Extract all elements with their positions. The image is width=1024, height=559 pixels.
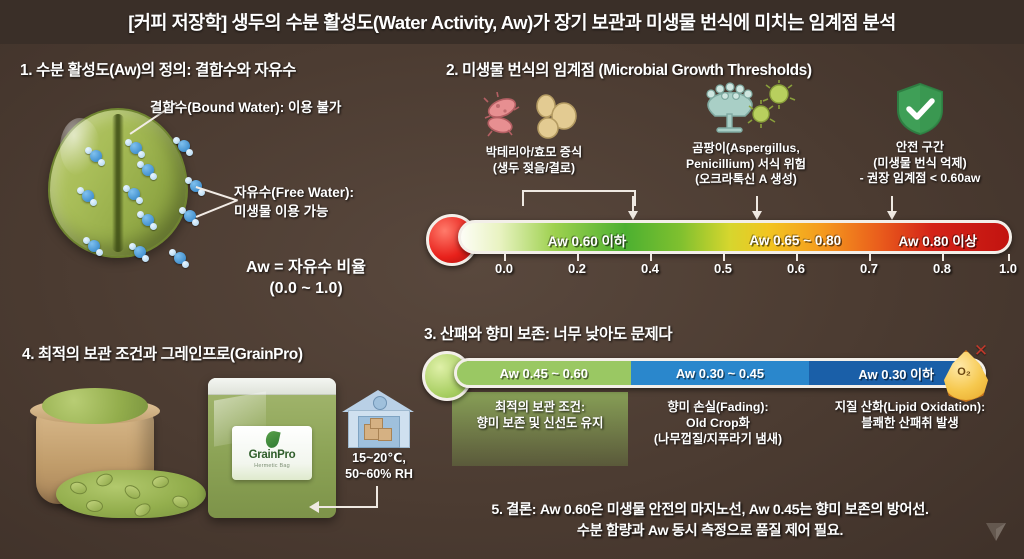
safety-shield-icon bbox=[894, 82, 946, 136]
tick-label-7: 1.0 bbox=[999, 261, 1017, 276]
water-molecule-icon bbox=[86, 238, 103, 255]
safe-connector-arrow bbox=[891, 196, 893, 212]
bar-track: Aw 0.45 ~ 0.60 Aw 0.30 ~ 0.45 Aw 0.30 이하 bbox=[454, 358, 986, 388]
tick-label-2: 0.4 bbox=[641, 261, 659, 276]
tick-label-5: 0.7 bbox=[860, 261, 878, 276]
warehouse-box bbox=[378, 428, 392, 441]
bean-crease bbox=[112, 114, 124, 252]
aw-formula-line2: (0.0 ~ 1.0) bbox=[196, 279, 416, 300]
safe-caption-line3: - 권장 임계점 < 0.60aw bbox=[830, 171, 1010, 187]
tick-label-0: 0.0 bbox=[495, 261, 513, 276]
oxidation-badge: O₂ ✕ bbox=[940, 346, 988, 400]
section-1-heading: 1. 수분 활성도(Aw)의 정의: 결합수와 자유수 bbox=[20, 58, 296, 80]
icon-col-bacteria: 박테리아/효모 증식 (생두 젖음/결로) bbox=[454, 92, 614, 176]
water-molecule-icon bbox=[140, 212, 157, 229]
tick-label-6: 0.8 bbox=[933, 261, 951, 276]
page-title: [커피 저장학] 생두의 수분 활성도(Water Activity, Aw)가… bbox=[128, 9, 895, 35]
warehouse-icon bbox=[342, 390, 414, 446]
warehouse-vent bbox=[373, 396, 387, 410]
flavor-caption-0-line2: 향미 보존 및 신선도 유지 bbox=[452, 416, 628, 432]
tick-label-3: 0.5 bbox=[714, 261, 732, 276]
storage-conditions: 15~20℃, 50~60% RH bbox=[326, 450, 432, 483]
sack-beans bbox=[42, 388, 148, 424]
section-3-heading: 3. 산패와 향미 보존: 너무 낮아도 문제다 bbox=[424, 322, 672, 344]
aw-threshold-gauge: Aw 0.60 이하 Aw 0.65 ~ 0.80 Aw 0.80 이상 bbox=[452, 220, 1012, 254]
flavor-caption-1-line1: 향미 손실(Fading): bbox=[628, 400, 808, 416]
mold-caption-line1: 곰팡이(Aspergillus, bbox=[636, 141, 856, 157]
flavor-caption-0-line1: 최적의 보관 조건: bbox=[452, 400, 628, 416]
storage-conditions-line2: 50~60% RH bbox=[326, 466, 432, 482]
bacteria-connector-arrow bbox=[632, 196, 634, 212]
infographic-page: [커피 저장학] 생두의 수분 활성도(Water Activity, Aw)가… bbox=[0, 0, 1024, 559]
bar-segment-0: Aw 0.45 ~ 0.60 bbox=[457, 361, 631, 385]
pouch-sub-label: Hermetic Bag bbox=[232, 463, 312, 469]
bacteria-connector-bracket bbox=[522, 190, 636, 206]
water-molecule-icon bbox=[140, 162, 157, 179]
water-molecule-icon bbox=[80, 188, 97, 205]
flavor-caption-1-line2: Old Crop화 bbox=[628, 416, 808, 432]
leaf-icon bbox=[264, 430, 280, 449]
warehouse-arrow-horizontal bbox=[318, 506, 378, 508]
flavor-caption-2-line1: 지질 산화(Lipid Oxidation): bbox=[808, 400, 1012, 416]
oil-badge-text: O₂ bbox=[940, 366, 988, 378]
safe-caption-line2: (미생물 번식 억제) bbox=[830, 156, 1010, 172]
coffee-bean-illustration bbox=[48, 108, 188, 258]
grainpro-pouch: GrainPro Hermetic Bag bbox=[208, 378, 336, 518]
tick-label-4: 0.6 bbox=[787, 261, 805, 276]
icon-col-mold: 곰팡이(Aspergillus, Penicillium) 서식 위험 (오크라… bbox=[636, 80, 856, 188]
title-bar: [커피 저장학] 생두의 수분 활성도(Water Activity, Aw)가… bbox=[0, 0, 1024, 44]
bean-highlight bbox=[60, 118, 100, 176]
free-water-label-line1: 자유수(Free Water): bbox=[234, 185, 354, 202]
pouch-brand-name: GrainPro bbox=[232, 449, 312, 461]
water-molecule-icon bbox=[132, 244, 149, 261]
mold-caption-line2: Penicillium) 서식 위험 bbox=[636, 157, 856, 173]
icon-col-safe: 안전 구간 (미생물 번식 억제) - 권장 임계점 < 0.60aw bbox=[830, 82, 1010, 187]
tick-label-1: 0.2 bbox=[568, 261, 586, 276]
aw-formula: Aw = 자유수 비율 (0.0 ~ 1.0) bbox=[196, 258, 416, 300]
water-molecule-icon bbox=[88, 148, 105, 165]
flavor-caption-2: 지질 산화(Lipid Oxidation): 블쾌한 산패취 발생 bbox=[808, 400, 1012, 432]
free-water-label-line2: 미생물 이용 가능 bbox=[234, 204, 328, 221]
mold-connector-arrow bbox=[756, 196, 758, 212]
conclusion-line2: 수분 함량과 Aw 동시 측정으로 품질 제어 필요. bbox=[400, 521, 1020, 542]
mold-caption-line3: (오크라톡신 A 생성) bbox=[636, 172, 856, 188]
safe-caption-line1: 안전 구간 bbox=[830, 140, 1010, 156]
watermark-icon bbox=[984, 519, 1008, 545]
warehouse-box bbox=[370, 418, 383, 429]
free-water-leader-line-2 bbox=[196, 200, 237, 218]
flavor-caption-1-line3: (나무껍질/지푸라기 냄새) bbox=[628, 432, 808, 448]
thermometer-tube: Aw 0.60 이하 Aw 0.65 ~ 0.80 Aw 0.80 이상 bbox=[458, 220, 1012, 254]
pouch-label: GrainPro Hermetic Bag bbox=[232, 426, 312, 480]
water-molecule-icon bbox=[126, 186, 143, 203]
pouch-seal bbox=[208, 378, 336, 395]
free-water-molecule-icon bbox=[176, 138, 193, 155]
flavor-caption-0: 최적의 보관 조건: 향미 보존 및 신선도 유지 bbox=[452, 400, 628, 432]
gauge-segment-1: Aw 0.65 ~ 0.80 bbox=[724, 223, 866, 257]
gauge-tick-axis: 0.0 0.2 0.4 0.5 0.6 0.7 0.8 1.0 bbox=[452, 254, 1012, 280]
conclusion-text: 5. 결론: Aw 0.60은 미생물 안전의 마지노선, Aw 0.45는 향… bbox=[400, 500, 1020, 541]
gauge-segment-2: Aw 0.80 이상 bbox=[872, 223, 1004, 257]
gauge-segment-0: Aw 0.60 이하 bbox=[483, 223, 691, 257]
conclusion-line1: 5. 결론: Aw 0.60은 미생물 안전의 마지노선, Aw 0.45는 향… bbox=[400, 500, 1020, 521]
flavor-caption-2-line2: 블쾌한 산패취 발생 bbox=[808, 416, 1012, 432]
section-2-heading: 2. 미생물 번식의 임계점 (Microbial Growth Thresho… bbox=[446, 58, 812, 80]
bacteria-yeast-icon bbox=[474, 92, 594, 140]
bacteria-caption-line2: (생두 젖음/결로) bbox=[454, 161, 614, 177]
section-4-heading: 4. 최적의 보관 조건과 그레인프로(GrainPro) bbox=[22, 342, 303, 364]
aw-formula-line1: Aw = 자유수 비율 bbox=[196, 258, 416, 279]
flavor-caption-1: 향미 손실(Fading): Old Crop화 (나무껍질/지푸라기 냄새) bbox=[628, 400, 808, 448]
bar-segment-1: Aw 0.30 ~ 0.45 bbox=[631, 361, 810, 385]
bacteria-caption-line1: 박테리아/효모 증식 bbox=[454, 145, 614, 161]
water-molecule-icon bbox=[128, 140, 145, 157]
mold-spore-icon bbox=[689, 80, 809, 136]
free-water-molecule-icon bbox=[172, 250, 189, 267]
storage-conditions-line1: 15~20℃, bbox=[326, 450, 432, 466]
warehouse-arrow-vertical bbox=[376, 486, 378, 508]
flavor-preservation-bar: Aw 0.45 ~ 0.60 Aw 0.30 ~ 0.45 Aw 0.30 이하… bbox=[452, 358, 986, 388]
cross-mark-icon: ✕ bbox=[973, 343, 989, 359]
bound-water-label: 결합수(Bound Water): 이용 불가 bbox=[150, 100, 341, 117]
